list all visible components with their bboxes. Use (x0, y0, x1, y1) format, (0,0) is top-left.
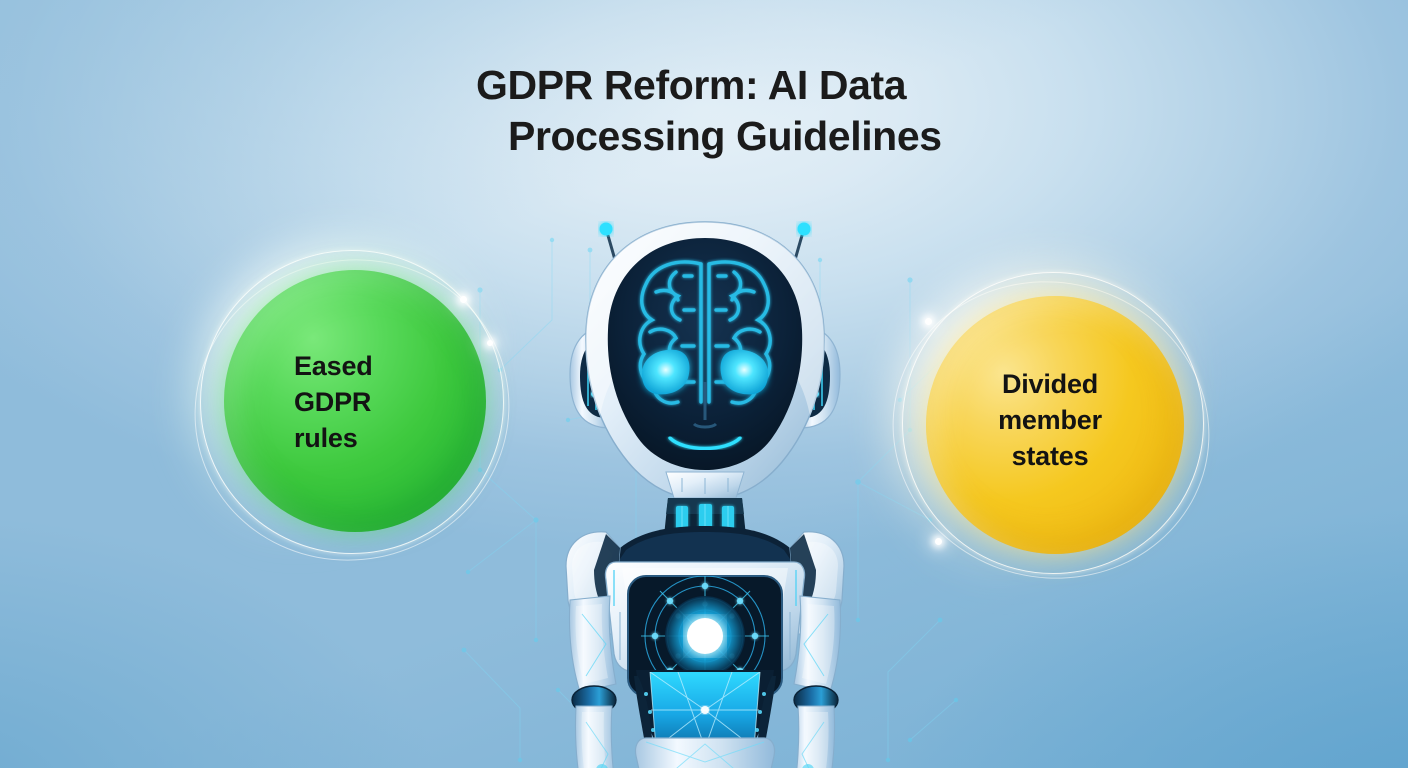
bubble-label-line-1: Divided (980, 366, 1120, 402)
bubble-label-line-3: rules (294, 420, 373, 456)
bubble-label: Divided member states (980, 366, 1120, 475)
ring-glow-dot (935, 538, 942, 545)
divided-member-states-bubble[interactable]: Divided member states (898, 272, 1208, 582)
page-title-line-2: Processing Guidelines (508, 111, 1176, 162)
eased-gdpr-rules-bubble[interactable]: Eased GDPR rules (198, 248, 506, 556)
hip-belt (635, 738, 774, 768)
bubble-label-line-1: Eased (294, 348, 373, 384)
bubble-label-line-3: states (980, 438, 1120, 474)
ring-glow-dot (925, 318, 932, 325)
page-title-line-1: GDPR Reform: AI Data (476, 62, 906, 108)
ring-glow-dot (487, 340, 493, 346)
bubble-label-line-2: GDPR (294, 384, 373, 420)
page-title: GDPR Reform: AI Data Processing Guidelin… (476, 60, 1176, 163)
bubble-label: Eased GDPR rules (294, 348, 373, 457)
ai-humanoid-robot (470, 214, 940, 768)
abdomen-mesh-panel (650, 672, 760, 748)
bubble-label-line-2: member (980, 402, 1120, 438)
ring-glow-dot (460, 296, 467, 303)
poster-canvas: Eased GDPR rules Divided member states G… (0, 0, 1408, 768)
